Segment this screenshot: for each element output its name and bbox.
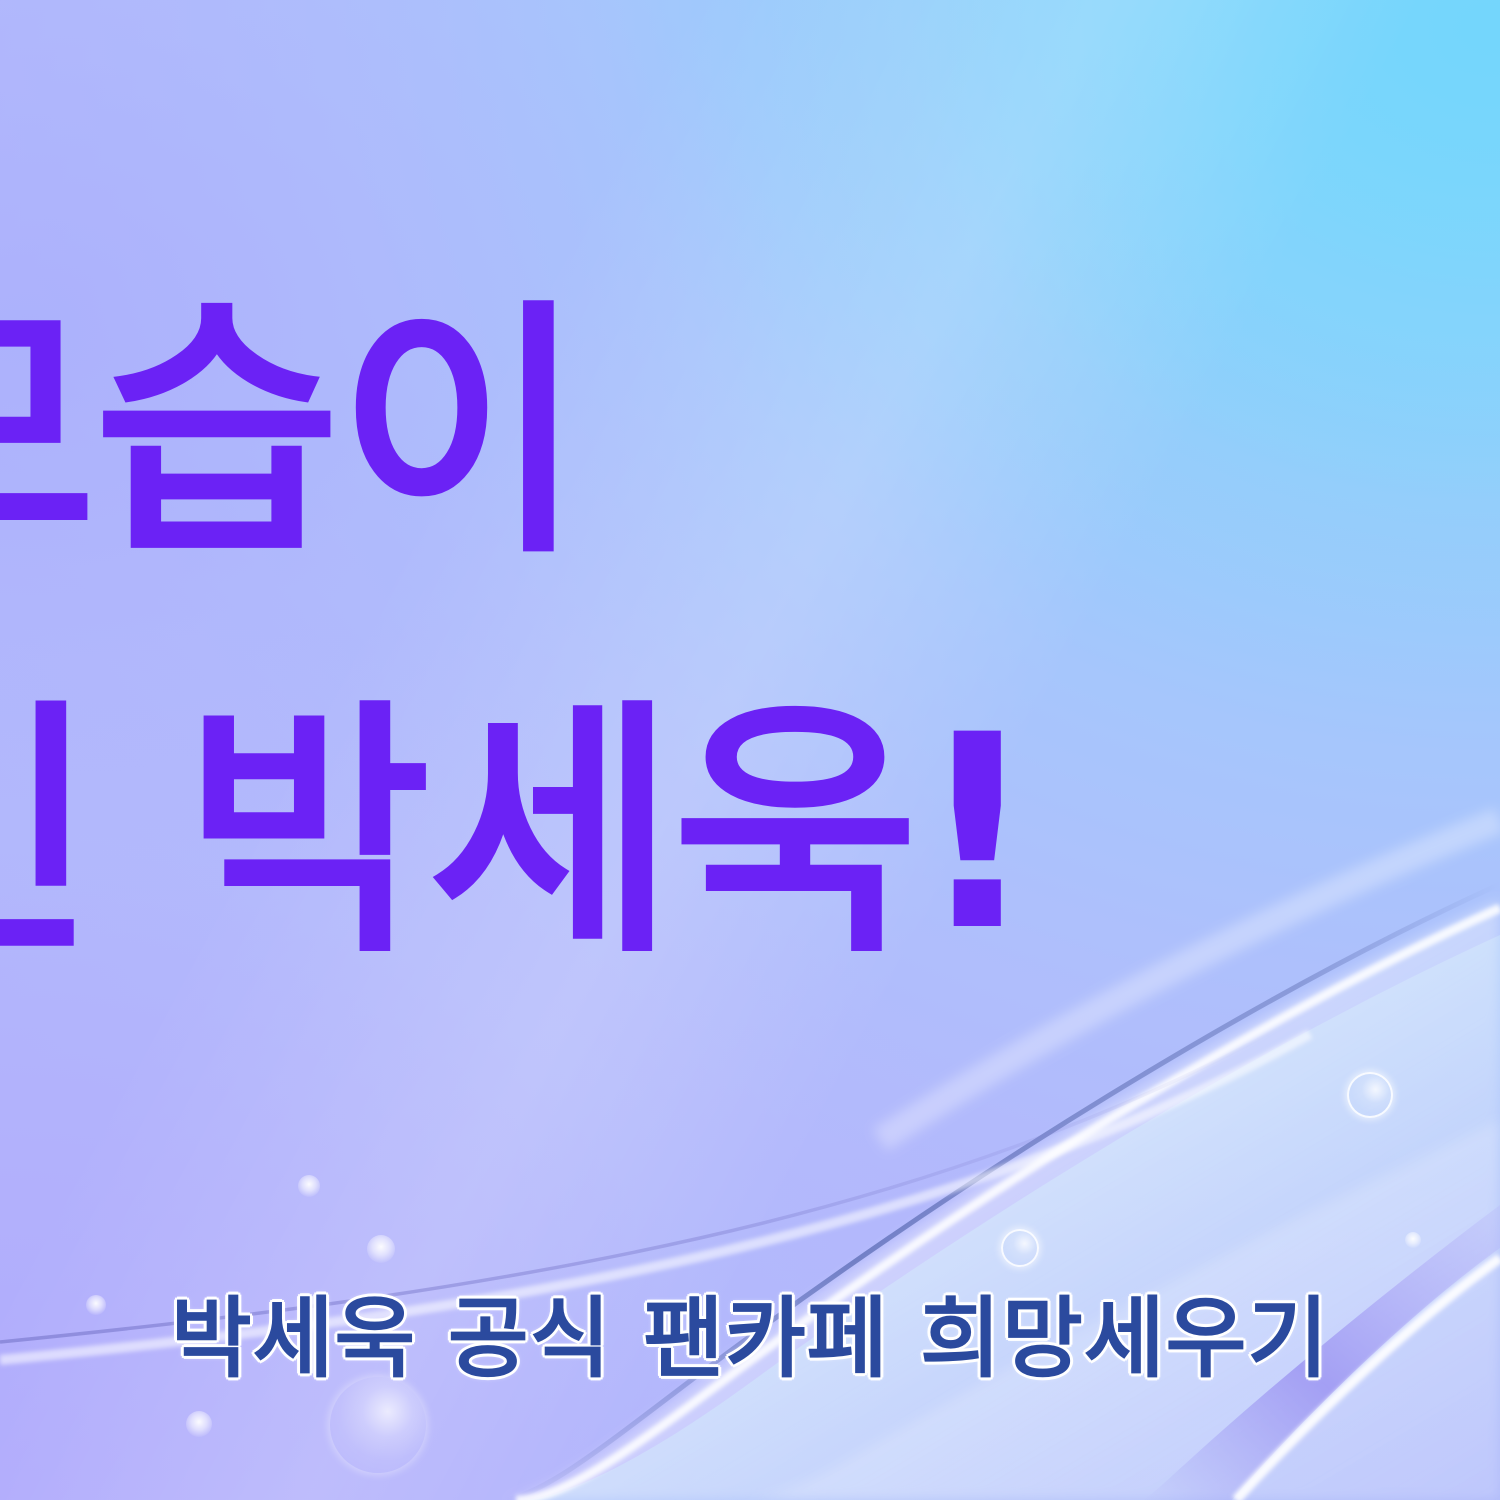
headline-text: 모습이 인 박세욱! <box>0 300 1250 1100</box>
banner-canvas: 모습이 인 박세욱! 박세욱 공식 팬카페 희망세우기 <box>0 0 1500 1500</box>
fan-cafe-caption: 박세욱 공식 팬카페 희망세우기 <box>0 1268 1500 1395</box>
headline-line-2: 인 박세욱! <box>0 700 1250 1100</box>
headline-line-1: 모습이 <box>0 300 1250 700</box>
